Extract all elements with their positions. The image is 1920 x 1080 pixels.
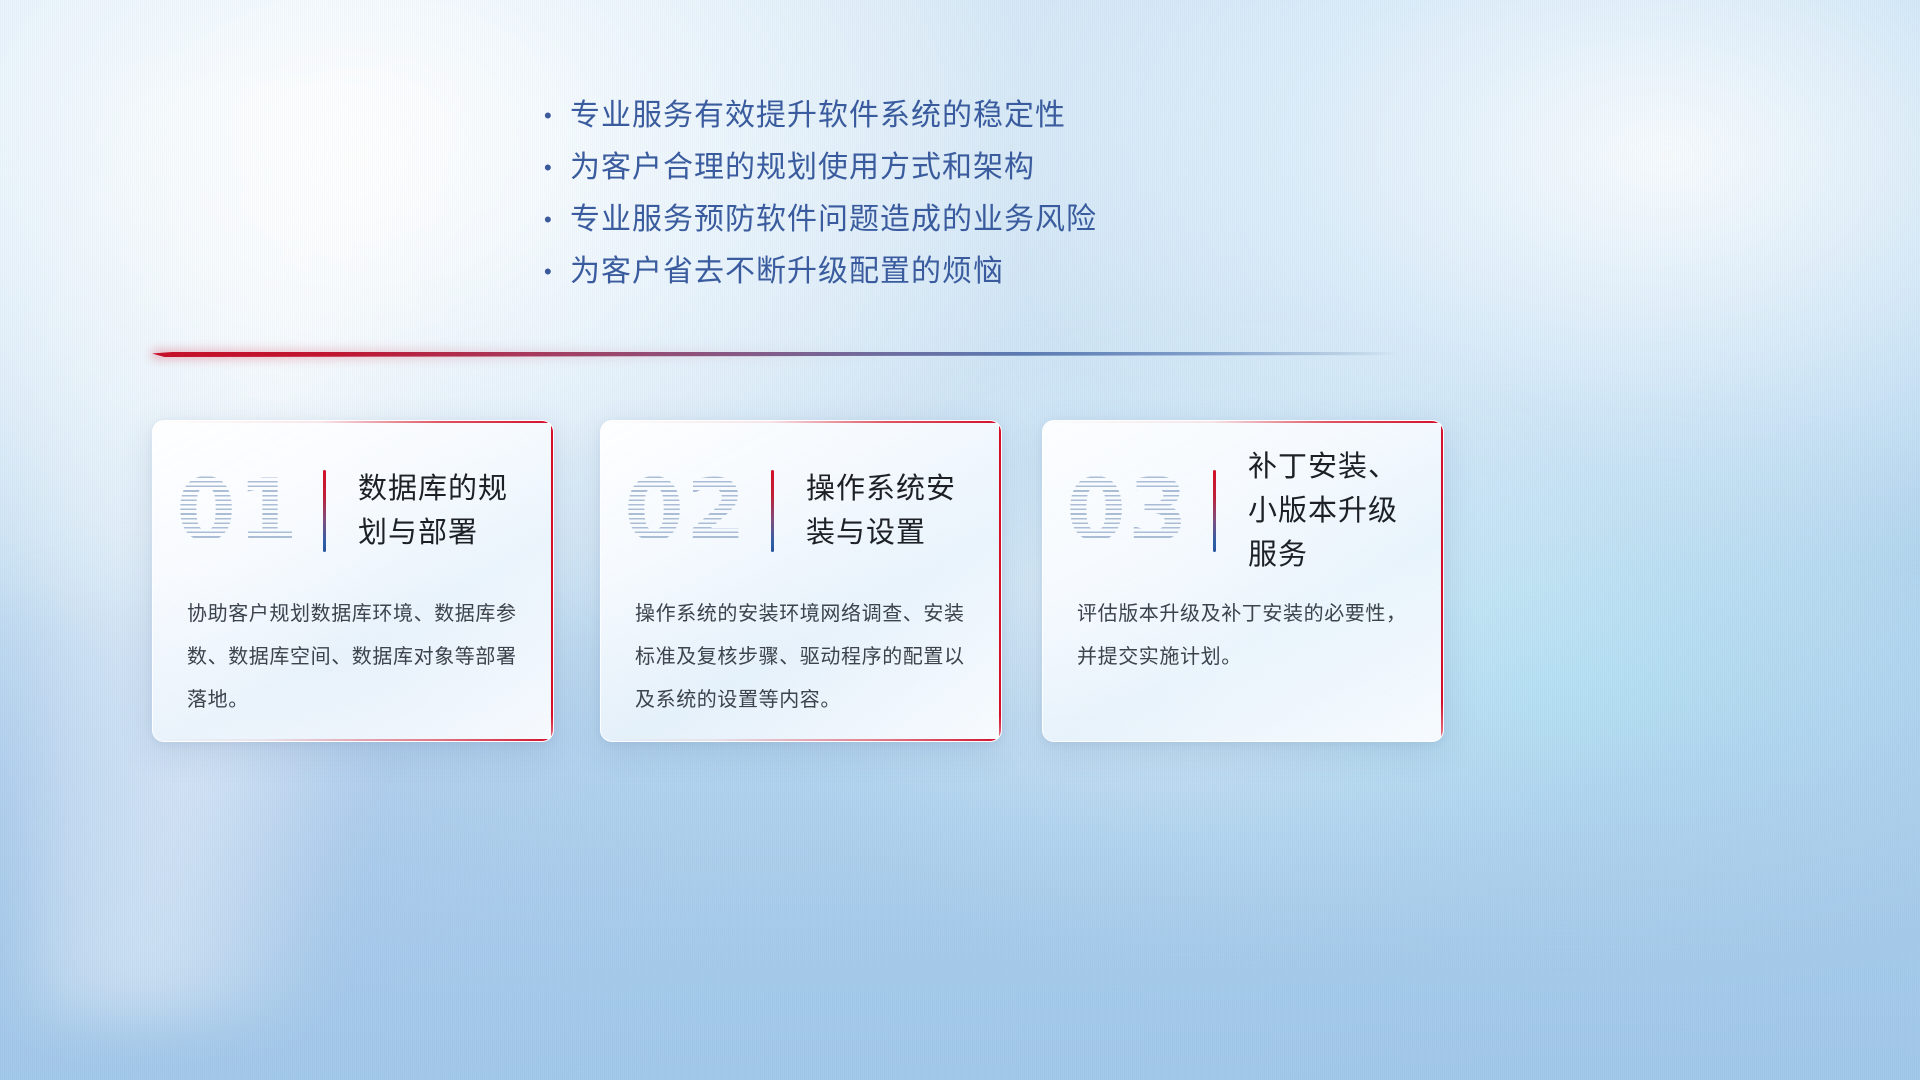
card-body-text: 协助客户规划数据库环境、数据库参数、数据库空间、数据库对象等部署落地。 bbox=[187, 593, 527, 722]
card-accent-bottom-edge bbox=[153, 739, 553, 741]
bullet-dot-icon: • bbox=[540, 90, 570, 142]
bullet-text: 为客户合理的规划使用方式和架构 bbox=[570, 142, 1035, 194]
list-item: • 专业服务有效提升软件系统的稳定性 bbox=[540, 90, 1300, 142]
card-title: 操作系统安装与设置 bbox=[774, 467, 1001, 555]
bullet-text: 专业服务预防软件问题造成的业务风险 bbox=[570, 194, 1097, 246]
bullet-dot-icon: • bbox=[540, 246, 570, 298]
card-number: 01 bbox=[153, 452, 323, 570]
bullet-text: 专业服务有效提升软件系统的稳定性 bbox=[570, 90, 1066, 142]
list-item: • 为客户省去不断升级配置的烦恼 bbox=[540, 246, 1300, 298]
card-number: 02 bbox=[601, 452, 771, 570]
section-divider bbox=[152, 348, 1400, 362]
service-card-01[interactable]: 01 数据库的规划与部署 协助客户规划数据库环境、数据库参数、数据库空间、数据库… bbox=[152, 420, 554, 742]
card-header: 02 操作系统安装与设置 bbox=[601, 447, 1001, 575]
card-body-text: 操作系统的安装环境网络调查、安装标准及复核步骤、驱动程序的配置以及系统的设置等内… bbox=[635, 593, 975, 722]
card-accent-top-edge bbox=[601, 421, 1001, 423]
service-card-03[interactable]: 03 补丁安装、小版本升级服务 评估版本升级及补丁安装的必要性，并提交实施计划。 bbox=[1042, 420, 1444, 742]
service-card-group: 01 数据库的规划与部署 协助客户规划数据库环境、数据库参数、数据库空间、数据库… bbox=[0, 420, 1920, 750]
card-accent-top-edge bbox=[1043, 421, 1443, 423]
card-accent-top-edge bbox=[153, 421, 553, 423]
card-title: 补丁安装、小版本升级服务 bbox=[1216, 445, 1443, 577]
benefit-bullet-list: • 专业服务有效提升软件系统的稳定性 • 为客户合理的规划使用方式和架构 • 专… bbox=[540, 90, 1300, 298]
card-header: 03 补丁安装、小版本升级服务 bbox=[1043, 447, 1443, 575]
card-header: 01 数据库的规划与部署 bbox=[153, 447, 553, 575]
card-title: 数据库的规划与部署 bbox=[326, 467, 553, 555]
bullet-dot-icon: • bbox=[540, 194, 570, 246]
list-item: • 专业服务预防软件问题造成的业务风险 bbox=[540, 194, 1300, 246]
service-card-02[interactable]: 02 操作系统安装与设置 操作系统的安装环境网络调查、安装标准及复核步骤、驱动程… bbox=[600, 420, 1002, 742]
bullet-dot-icon: • bbox=[540, 142, 570, 194]
card-number: 03 bbox=[1043, 452, 1213, 570]
bullet-text: 为客户省去不断升级配置的烦恼 bbox=[570, 246, 1004, 298]
card-accent-bottom-edge bbox=[601, 739, 1001, 741]
card-body-text: 评估版本升级及补丁安装的必要性，并提交实施计划。 bbox=[1077, 593, 1417, 679]
list-item: • 为客户合理的规划使用方式和架构 bbox=[540, 142, 1300, 194]
